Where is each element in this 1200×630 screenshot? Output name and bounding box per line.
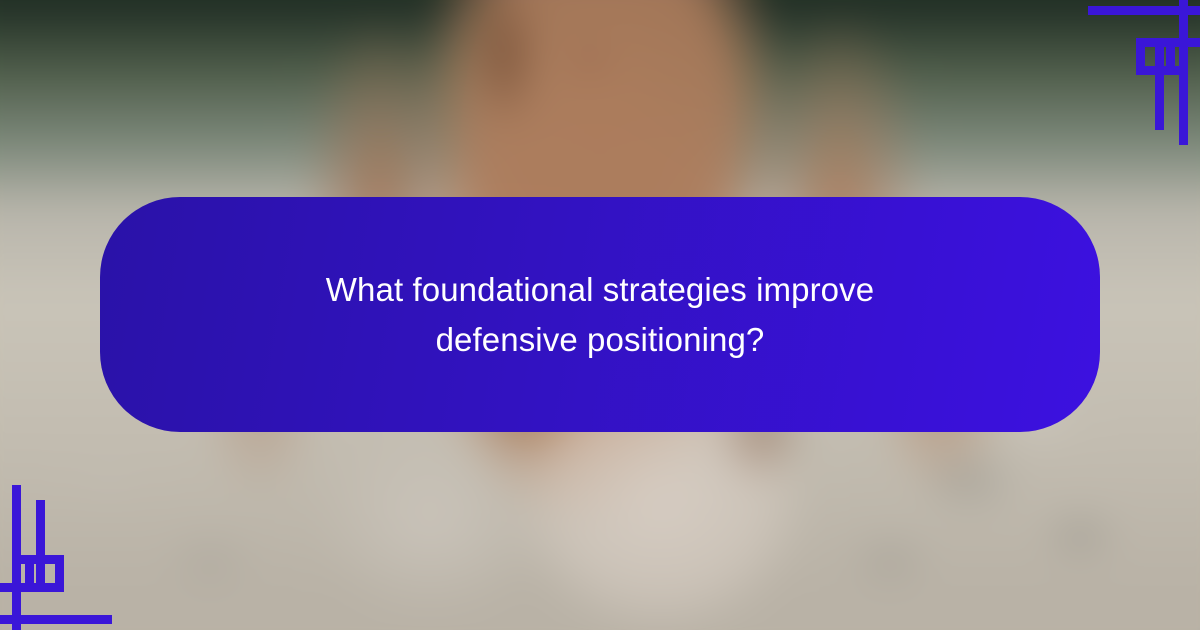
corner-ornament-bottom-left: [0, 485, 160, 630]
question-card: What foundational strategies improve def…: [100, 197, 1100, 432]
social-card-canvas: What foundational strategies improve def…: [0, 0, 1200, 630]
corner-ornament-top-right: [1040, 0, 1200, 145]
question-text: What foundational strategies improve def…: [260, 265, 940, 365]
